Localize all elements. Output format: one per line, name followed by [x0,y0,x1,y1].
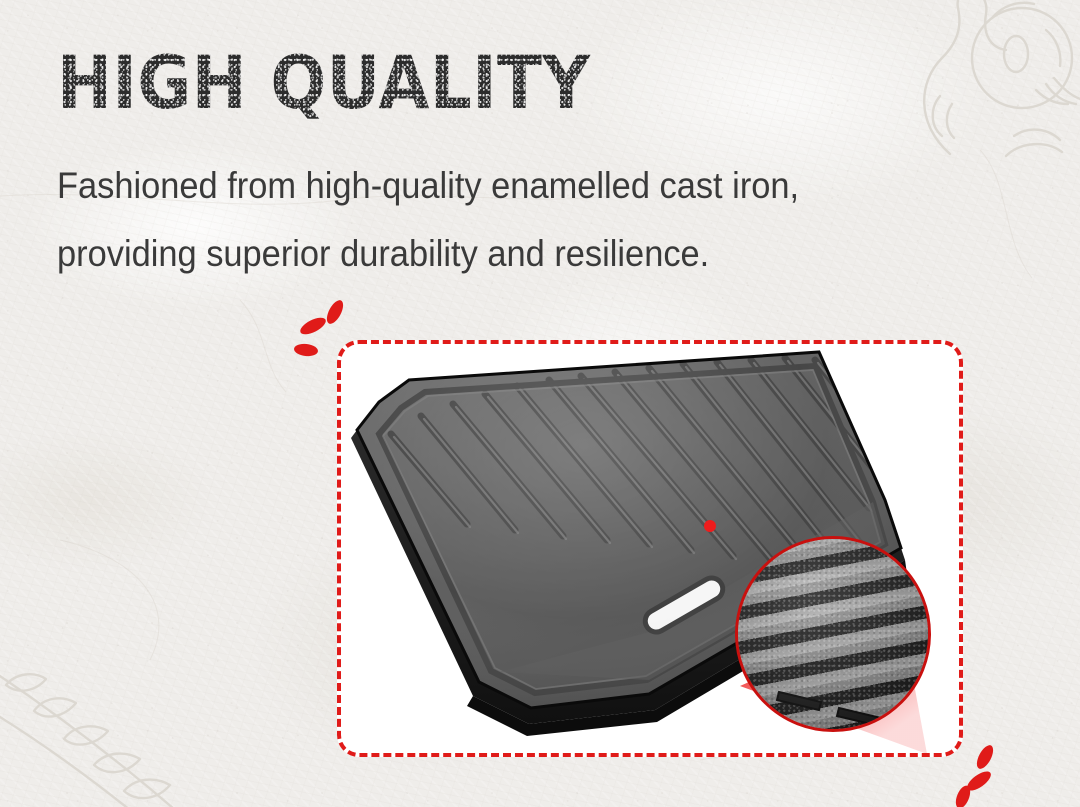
page-title: HIGH QUALITY [57,44,590,124]
promo-banner: HIGH QUALITY Fashioned from high-quality… [0,0,1080,807]
product-showcase [337,340,963,757]
corner-spark-top-left [293,300,363,366]
dashed-highlight-frame [337,340,963,757]
corner-spark-bottom-right [943,739,1023,807]
subtitle-text: Fashioned from high-quality enamelled ca… [57,152,913,288]
